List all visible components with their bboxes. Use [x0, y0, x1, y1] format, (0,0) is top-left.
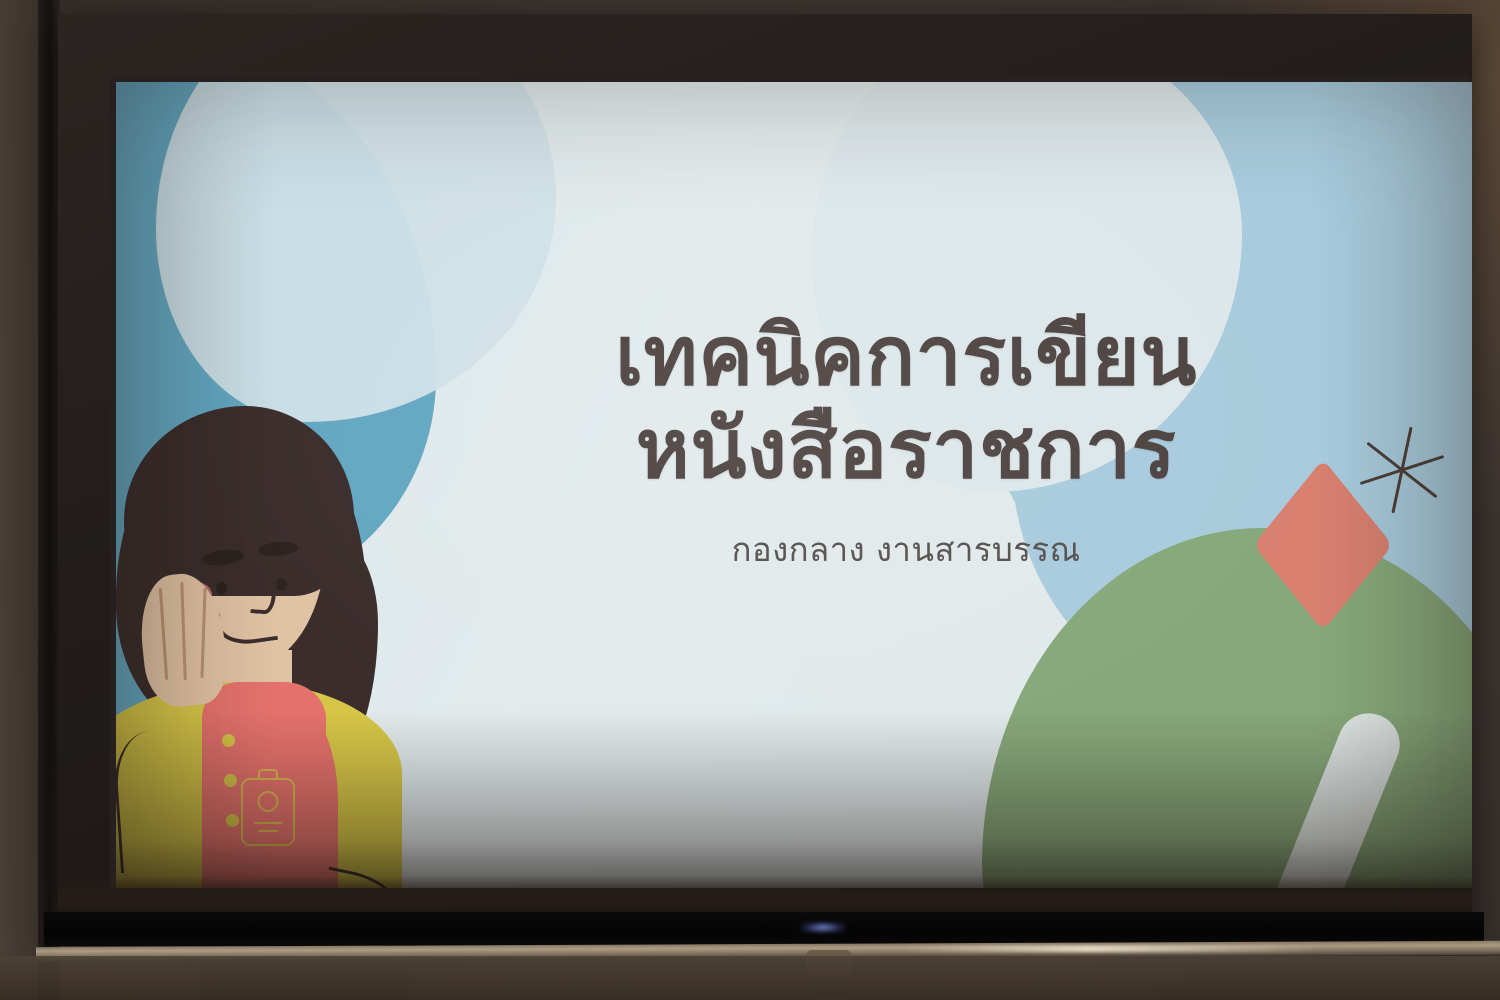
wall-left-edge [38, 0, 60, 1000]
cardigan-button-3 [226, 814, 239, 827]
title-line-2: หนังสือราชการ [416, 403, 1396, 496]
id-badge-head [258, 791, 279, 812]
display-bottom-shadow [58, 876, 1472, 916]
slide-text-block: เทคนิคการเขียน หนังสือราชการ กองกลาง งาน… [416, 310, 1396, 576]
bag-strap [116, 727, 217, 873]
id-badge-line-2 [258, 830, 278, 832]
id-badge-icon [241, 778, 295, 846]
slide-canvas: เทคนิคการเขียน หนังสือราชการ กองกลาง งาน… [116, 82, 1472, 888]
eye-left [216, 582, 227, 595]
id-badge-line-1 [254, 822, 282, 824]
page-title: เทคนิคการเขียน หนังสือราชการ [416, 310, 1396, 497]
trim-glare-highlight [900, 946, 1320, 952]
page-subtitle: กองกลาง งานสารบรรณ [416, 523, 1396, 576]
title-line-1: เทคนิคการเขียน [615, 309, 1197, 404]
room-photo: เทคนิคการเขียน หนังสือราชการ กองกลาง งาน… [0, 0, 1500, 1000]
power-led-indicator [800, 921, 846, 934]
eye-right [276, 578, 287, 591]
cardigan-button-1 [222, 734, 235, 747]
wall-left-strip [0, 0, 40, 1000]
wall-below-display [0, 956, 1500, 1000]
presentation-slide[interactable]: เทคนิคการเขียน หนังสือราชการ กองกลาง งาน… [116, 82, 1472, 888]
woman-illustration [116, 382, 436, 888]
cardigan-button-2 [224, 774, 237, 787]
